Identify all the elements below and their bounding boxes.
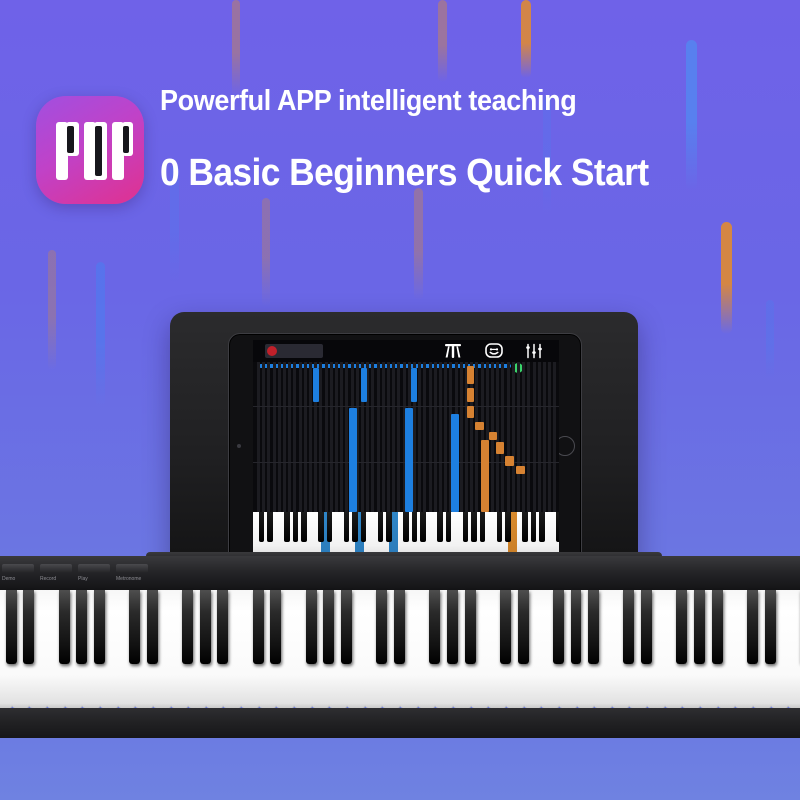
note-lane [304,362,307,512]
note-bar-orange [475,422,484,430]
falling-notes-field [253,362,559,512]
strings-icon[interactable] [443,343,463,359]
piano-black-key[interactable] [694,590,705,664]
piano-black-key[interactable] [394,590,405,664]
screen-black-key[interactable] [505,512,510,542]
note-lane [257,362,260,512]
piano-black-key[interactable] [94,590,105,664]
note-lane [470,362,473,512]
note-lane [439,362,442,512]
piano-black-key[interactable] [376,590,387,664]
note-lane [392,362,395,512]
deco-note-bar [766,300,774,380]
note-gridline [253,406,559,407]
note-bar-blue [313,368,319,402]
note-bar-blue [361,368,367,402]
screen-black-key[interactable] [378,512,383,542]
note-lane [538,362,541,512]
piano-control-label: Demo [2,576,15,582]
note-lane [387,362,390,512]
note-lane [377,362,380,512]
digital-piano: DemoRecordPlayMetronome [0,556,800,740]
piano-control-button[interactable] [116,564,148,573]
note-lane [325,362,328,512]
piano-black-key[interactable] [712,590,723,664]
note-lane [527,362,530,512]
piano-black-key[interactable] [553,590,564,664]
piano-black-key[interactable] [200,590,211,664]
note-lane [522,362,525,512]
deco-note-bar [721,222,732,334]
pop-logo-keys-icon [36,96,144,204]
note-bar-orange [467,406,474,418]
camera-icon [237,444,241,448]
piano-control-label: Play [78,576,88,582]
screen-black-key[interactable] [437,512,442,542]
note-lane [382,362,385,512]
note-bar-orange [489,432,497,440]
note-bar-orange [481,440,489,512]
note-lane [267,362,270,512]
note-lane [429,362,432,512]
screen-black-key[interactable] [522,512,527,542]
note-lane [434,362,437,512]
screen-black-key[interactable] [327,512,332,542]
screen-black-key[interactable] [267,512,272,542]
piano-front-rail [0,708,800,742]
note-lane [397,362,400,512]
headline: Powerful APP intelligent teaching [160,85,576,118]
piano-black-key[interactable] [571,590,582,664]
piano-black-key[interactable] [23,590,34,664]
deco-note-bar [48,250,56,370]
note-lane [299,362,302,512]
piano-black-key[interactable] [747,590,758,664]
piano-black-key[interactable] [129,590,140,664]
screen-black-key[interactable] [497,512,502,542]
screen-black-key[interactable] [446,512,451,542]
piano-black-key[interactable] [6,590,17,664]
screen-black-key[interactable] [386,512,391,542]
background-floor [0,738,800,800]
note-lane [330,362,333,512]
screen-black-key[interactable] [361,512,366,542]
piano-black-key[interactable] [447,590,458,664]
piano-black-key[interactable] [253,590,264,664]
note-bar-orange [496,442,504,454]
subheadline: 0 Basic Beginners Quick Start [160,152,649,195]
note-bar-orange [467,388,474,402]
note-lane [548,362,551,512]
note-lane [293,362,296,512]
piano-black-key[interactable] [306,590,317,664]
piano-black-key[interactable] [429,590,440,664]
header: Powerful APP intelligent teaching 0 Basi… [0,0,800,230]
note-lane [273,362,276,512]
app-topbar [253,340,559,362]
app-logo [36,96,144,204]
screen-black-key[interactable] [293,512,298,542]
screen-black-key[interactable] [352,512,357,542]
note-lane [278,362,281,512]
note-lane [335,362,338,512]
note-lane [309,362,312,512]
record-dot-icon [267,346,277,356]
piano-black-key[interactable] [518,590,529,664]
piano-control-panel: DemoRecordPlayMetronome [0,556,800,592]
piano-black-key[interactable] [765,590,776,664]
piano-black-key[interactable] [147,590,158,664]
tablet-device [228,333,582,567]
screen-black-key[interactable] [556,512,559,542]
note-lane [262,362,265,512]
deco-note-bar [96,262,105,407]
note-bar-blue [411,368,417,402]
note-lane [423,362,426,512]
piano-control-label: Record [40,576,56,582]
note-lane [371,362,374,512]
piano-black-key[interactable] [270,590,281,664]
piano-control-button[interactable] [40,564,72,573]
screen-black-key[interactable] [284,512,289,542]
screen-black-key[interactable] [412,512,417,542]
piano-black-key[interactable] [59,590,70,664]
note-lane [460,362,463,512]
mixer-icon[interactable] [525,343,543,359]
piano-black-key[interactable] [588,590,599,664]
screen-black-key[interactable] [403,512,408,542]
note-lane [340,362,343,512]
note-lane [475,362,478,512]
tablet-screen [253,340,559,560]
note-lane [444,362,447,512]
note-bar-orange [467,366,474,384]
note-lane [501,362,504,512]
piano-control-label: Metronome [116,576,141,582]
note-lane [553,362,556,512]
note-lane [418,362,421,512]
note-bar-blue [349,408,357,512]
piano-black-key[interactable] [217,590,228,664]
piano-black-key[interactable] [182,590,193,664]
piano-black-key[interactable] [465,590,476,664]
piano-control-button[interactable] [2,564,34,573]
smiley-icon[interactable] [485,343,503,359]
note-lane [345,362,348,512]
note-bar-blue [405,408,413,512]
note-lane [543,362,546,512]
note-lane [319,362,322,512]
note-lane [288,362,291,512]
screen-black-key[interactable] [480,512,485,542]
screen-black-key[interactable] [531,512,536,542]
note-lane [283,362,286,512]
piano-black-key[interactable] [676,590,687,664]
screen-black-key[interactable] [344,512,349,542]
screen-black-key[interactable] [420,512,425,542]
note-lane [465,362,468,512]
note-lane [512,362,515,512]
screen-black-key[interactable] [539,512,544,542]
piano-black-key[interactable] [641,590,652,664]
screen-black-key[interactable] [463,512,468,542]
piano-black-key[interactable] [623,590,634,664]
note-lane [533,362,536,512]
note-bar-orange [505,456,514,466]
screen-black-key[interactable] [471,512,476,542]
piano-black-key[interactable] [323,590,334,664]
piano-control-button[interactable] [78,564,110,573]
screen-black-key[interactable] [301,512,306,542]
piano-black-key[interactable] [500,590,511,664]
screen-black-key[interactable] [259,512,264,542]
screen-black-key[interactable] [318,512,323,542]
piano-black-key[interactable] [341,590,352,664]
piano-black-key[interactable] [76,590,87,664]
piano-white-key[interactable] [788,590,800,708]
poster-canvas: Powerful APP intelligent teaching 0 Basi… [0,0,800,800]
note-lane [517,362,520,512]
note-bar-orange [516,466,525,474]
note-bar-blue [451,414,459,512]
note-lane [507,362,510,512]
